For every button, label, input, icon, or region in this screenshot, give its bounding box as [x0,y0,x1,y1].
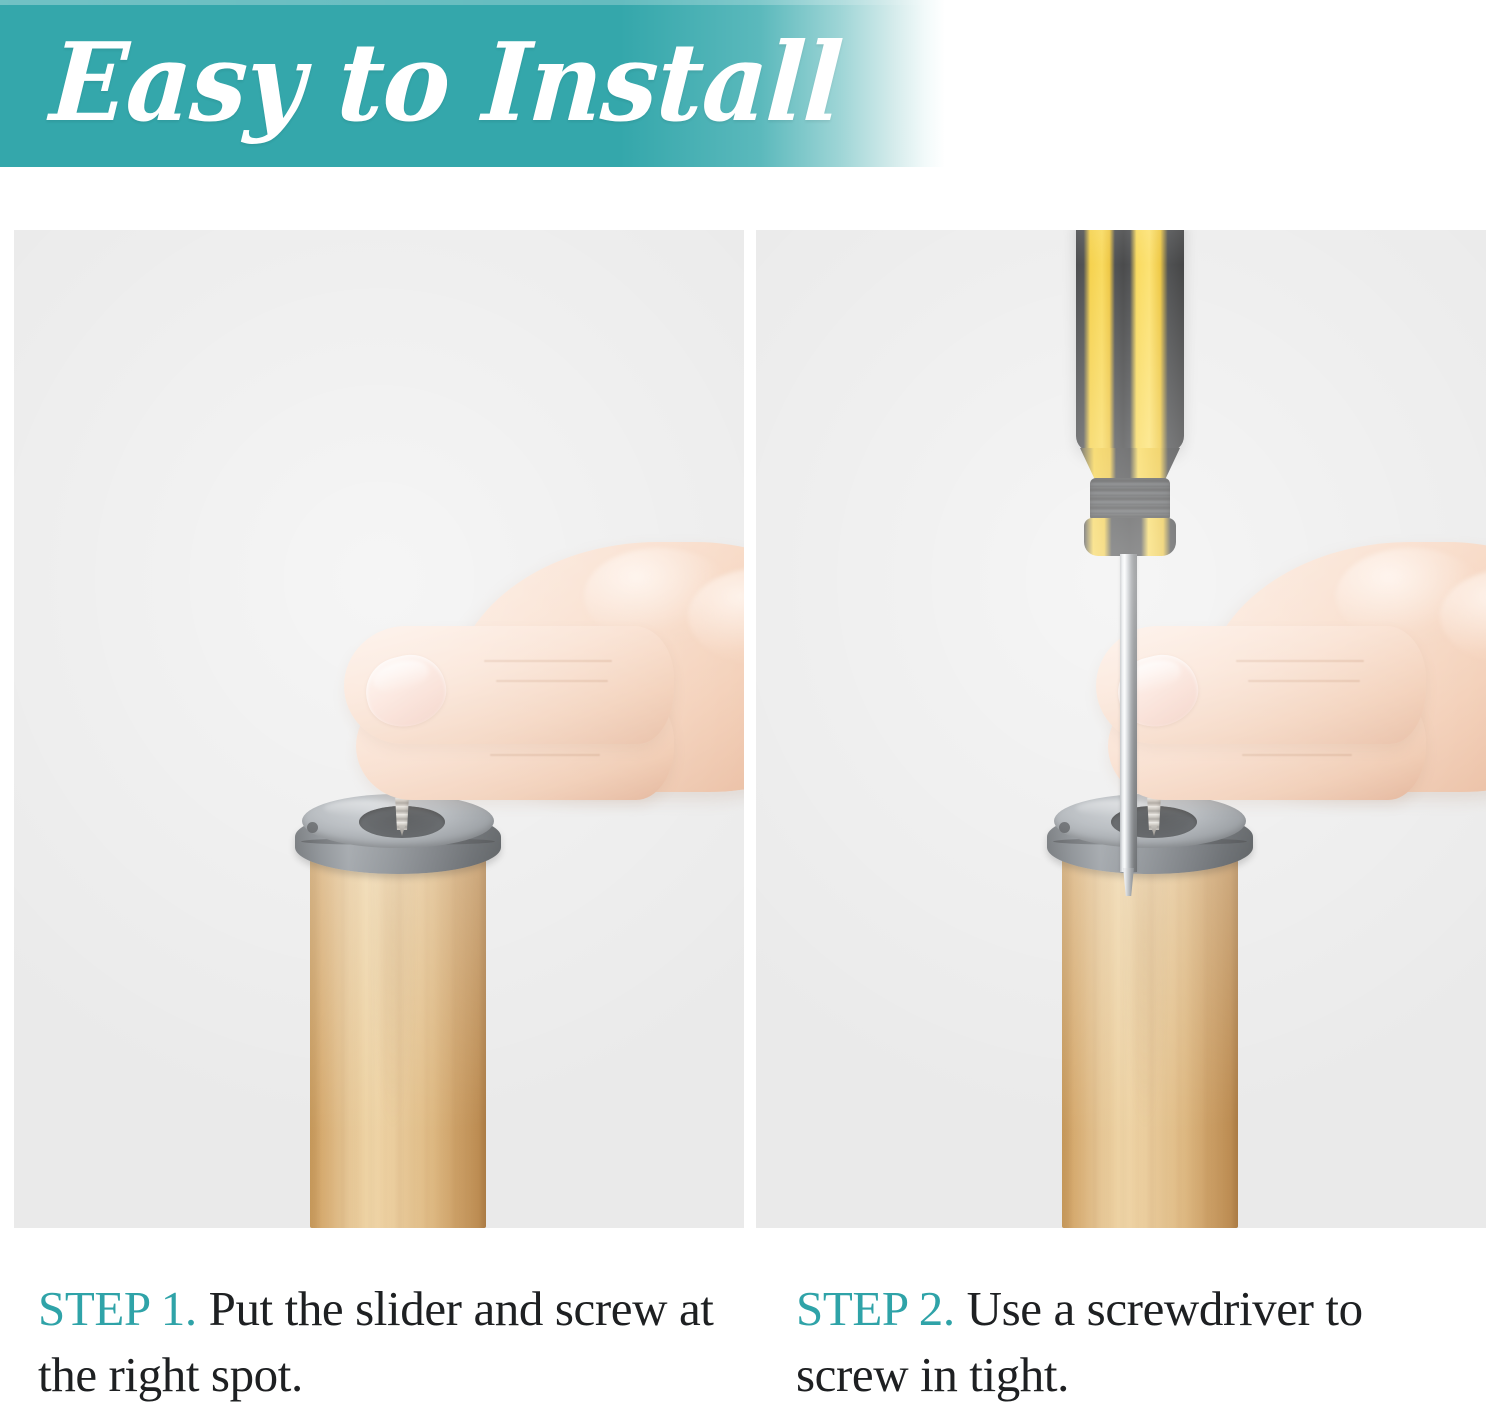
step-1-label: STEP 1. [38,1281,197,1336]
banner-top-highlight [0,0,1500,5]
screwdriver-ferrule [1090,478,1170,522]
finger-crease [1236,660,1364,662]
screwdriver-collar [1084,518,1176,556]
step-2-label: STEP 2. [796,1281,955,1336]
header-banner: Easy to Install [0,0,1500,167]
finger-crease [496,680,608,682]
wooden-furniture-leg [310,828,486,1228]
wood-grain-knot [370,852,416,1132]
finger-crease [1248,680,1360,682]
product-instruction-infographic: Easy to Install [0,0,1500,1428]
step-2-caption: STEP 2. Use a screwdriver to screw in ti… [760,1276,1500,1428]
finger-crease [490,754,600,756]
slider-side-notch [1059,822,1070,833]
wooden-furniture-leg [1062,828,1238,1228]
finger-crease [1242,754,1352,756]
step-photo-row [14,230,1486,1228]
handle-shine [1076,230,1184,452]
step-1-caption: STEP 1. Put the slider and screw at the … [0,1276,760,1428]
finger-crease [484,660,612,662]
index-finger [1096,626,1426,744]
fingernail-highlight [369,655,432,697]
screwdriver-handle-taper [1080,448,1180,482]
index-finger [344,626,674,744]
screwdriver-handle [1076,230,1184,452]
slider-side-notch [307,822,318,833]
page-title: Easy to Install [46,8,846,158]
step-2-image-panel [756,230,1486,1228]
screwdriver-shaft [1120,554,1137,872]
fingernail [359,647,454,734]
caption-row: STEP 1. Put the slider and screw at the … [0,1276,1500,1428]
step-1-image-panel [14,230,744,1228]
